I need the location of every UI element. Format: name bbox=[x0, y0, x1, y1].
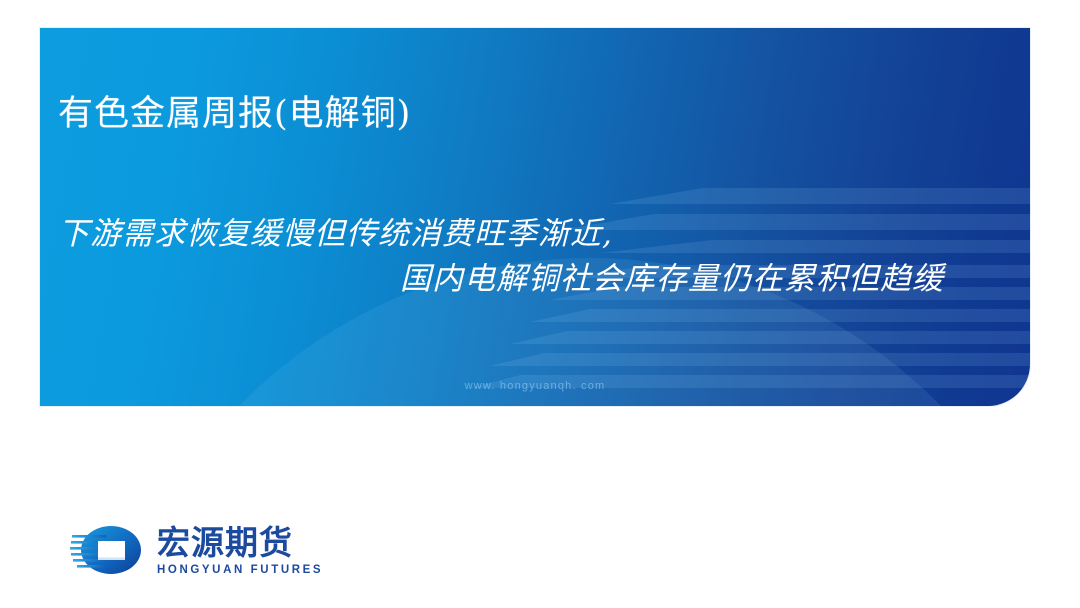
page-title: 有色金属周报(电解铜) bbox=[58, 85, 411, 136]
logo-wordmark: 宏源期货 HONGYUAN FUTURES bbox=[157, 526, 323, 577]
logo-name-en: HONGYUAN FUTURES bbox=[157, 565, 323, 577]
watermark-url: www. hongyuanqh. com bbox=[40, 380, 1030, 392]
hongyuan-disc-icon bbox=[70, 524, 144, 578]
company-logo: 宏源期货 HONGYUAN FUTURES bbox=[70, 520, 323, 582]
cover-panel: 有色金属周报(电解铜) 下游需求恢复缓慢但传统消费旺季渐近, 国内电解铜社会库存… bbox=[40, 28, 1030, 406]
subtitle-line-1: 下游需求恢复缓慢但传统消费旺季渐近, bbox=[58, 208, 613, 253]
logo-name-cn: 宏源期货 bbox=[157, 526, 323, 559]
cover-text-group: 有色金属周报(电解铜) 下游需求恢复缓慢但传统消费旺季渐近, 国内电解铜社会库存… bbox=[40, 28, 1030, 406]
subtitle-line-2: 国内电解铜社会库存量仍在累积但趋缓 bbox=[400, 253, 944, 298]
